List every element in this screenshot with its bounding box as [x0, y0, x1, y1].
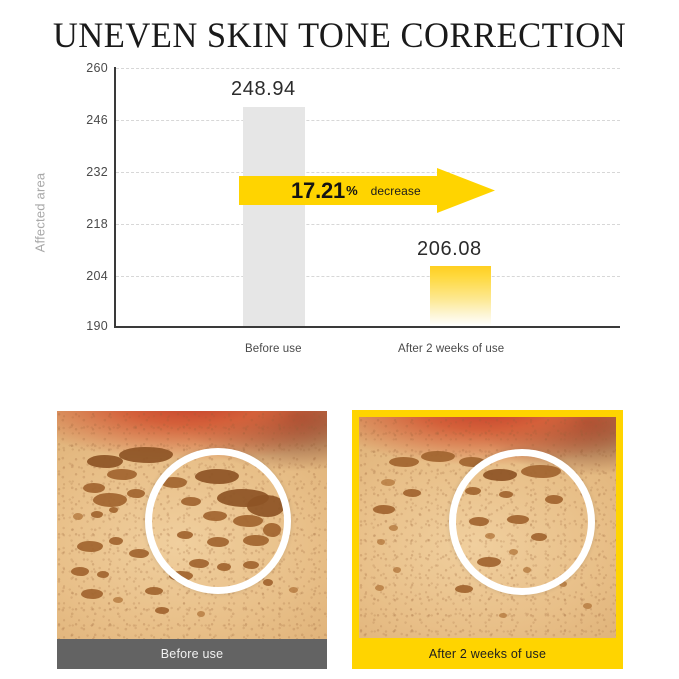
pigment-spot [389, 525, 398, 531]
skin-photo-before [57, 411, 327, 639]
x-tick-label-after: After 2 weeks of use [398, 343, 504, 355]
y-tick-label: 232 [78, 165, 108, 179]
gridline-260 [116, 68, 620, 69]
page-title: UNEVEN SKIN TONE CORRECTION [14, 14, 666, 56]
pigment-spot [109, 507, 118, 513]
photo-panel-before: Before use [57, 411, 327, 669]
y-axis-title: Affected area [33, 143, 48, 283]
pigment-spot [499, 613, 507, 618]
pigment-spot [127, 489, 145, 498]
pigment-spot [81, 589, 103, 599]
pigment-spot [289, 587, 298, 593]
gridline-246 [116, 120, 620, 121]
pigment-spot [77, 541, 103, 552]
y-tick-label: 218 [78, 217, 108, 231]
pigment-spot [373, 505, 395, 514]
y-tick-label: 260 [78, 61, 108, 75]
y-tick-label: 204 [78, 269, 108, 283]
pigment-spot [109, 537, 123, 545]
x-tick-label-before: Before use [245, 343, 302, 355]
pigment-spot [155, 607, 169, 614]
x-axis-line [114, 326, 620, 328]
bar-after-2-weeks [430, 266, 491, 326]
photo-panel-after: After 2 weeks of use [352, 410, 623, 669]
pigment-spot [403, 489, 421, 497]
decrease-arrow-callout: 17.21 % decrease [239, 168, 495, 213]
pigment-spot [107, 469, 137, 480]
y-axis-line [114, 67, 116, 328]
pigment-spot [381, 479, 395, 486]
y-tick-label: 190 [78, 319, 108, 333]
pigment-spot [73, 513, 83, 520]
pigment-spot [83, 483, 105, 493]
bar-value-before: 248.94 [231, 78, 296, 101]
pigment-spot [455, 585, 473, 593]
pigment-spot [421, 451, 455, 462]
pigment-spot [71, 567, 89, 576]
bar-value-after: 206.08 [417, 238, 482, 261]
pigment-spot [145, 587, 163, 595]
decrease-word: decrease [371, 184, 421, 198]
decrease-value: 17.21 [291, 178, 345, 204]
pigment-spot [113, 597, 123, 603]
gridline-218 [116, 224, 620, 225]
pigment-spot [263, 579, 273, 586]
zoom-circle-highlight [449, 449, 595, 595]
percent-symbol: % [346, 183, 358, 198]
decrease-text: 17.21 % decrease [291, 168, 421, 213]
pigment-spot [91, 511, 103, 518]
panel-caption-before: Before use [57, 639, 327, 669]
pigment-spot [93, 493, 127, 507]
pigment-spot [129, 549, 149, 558]
skin-photo-after [359, 417, 616, 638]
bar-chart: Affected area 260 246 232 218 204 190 24… [0, 55, 679, 375]
pigment-spot [197, 611, 205, 617]
pigment-spot [97, 571, 109, 578]
pigment-spot [389, 457, 419, 467]
yellow-frame [352, 410, 623, 669]
pigment-spot [375, 585, 384, 591]
zoom-circle-highlight [145, 448, 291, 594]
bar-before-use [243, 107, 305, 326]
pigment-spot [87, 455, 123, 468]
gridline-204 [116, 276, 620, 277]
pigment-spot [583, 603, 592, 609]
panel-caption-after: After 2 weeks of use [352, 639, 623, 669]
pigment-spot [393, 567, 401, 573]
pigment-spot [377, 539, 385, 545]
y-tick-label: 246 [78, 113, 108, 127]
pigment-spot [119, 447, 173, 463]
infographic-page: UNEVEN SKIN TONE CORRECTION Affected are… [0, 0, 679, 679]
